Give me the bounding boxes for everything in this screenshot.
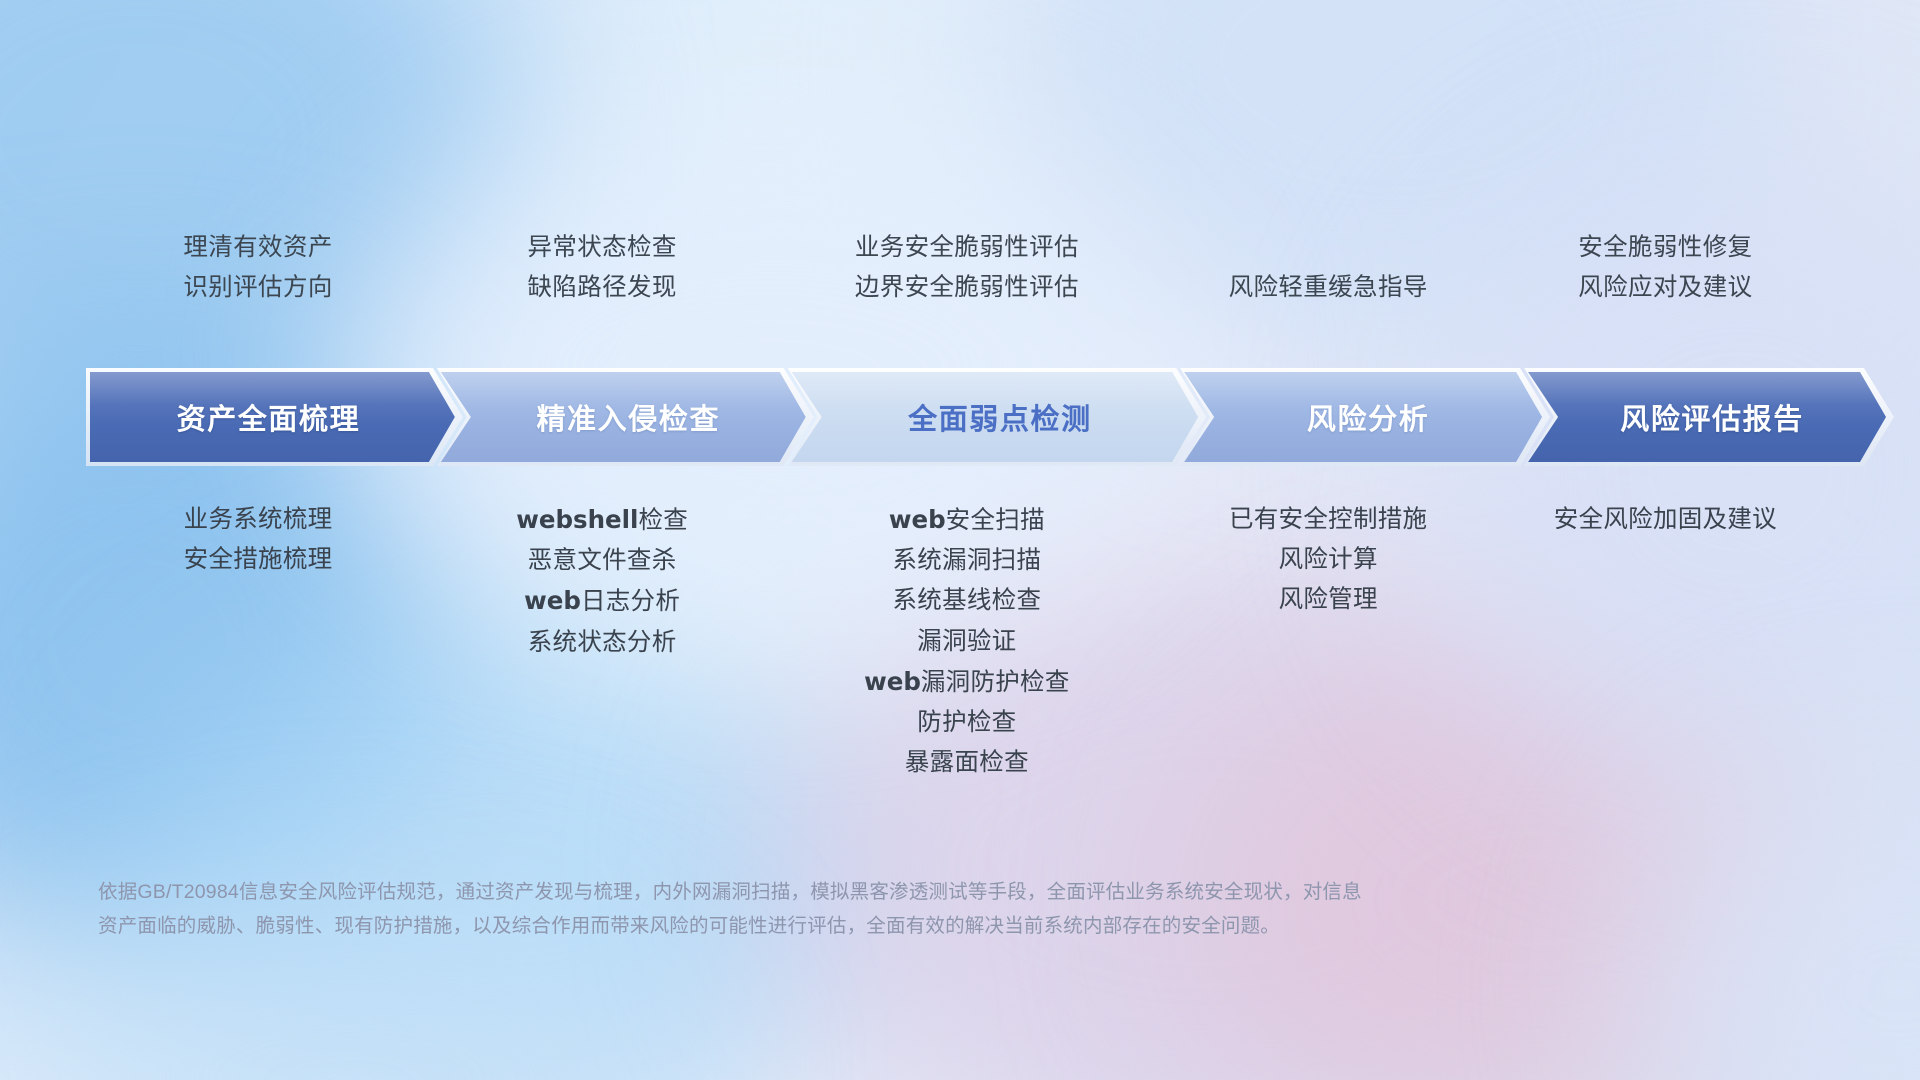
process-chevron-band: 资产全面梳理精准入侵检查全面弱点检测风险分析风险评估报告 xyxy=(86,368,1848,466)
activity-item: 安全措施梳理 xyxy=(184,540,333,580)
infographic-canvas: 理清有效资产识别评估方向异常状态检查缺陷路径发现业务安全脆弱性评估边界安全脆弱性… xyxy=(0,0,1920,1080)
footer-line-1: 依据GB/T20984信息安全风险评估规范，通过资产发现与梳理，内外网漏洞扫描，… xyxy=(98,876,1618,910)
activity-item: 恶意文件查杀 xyxy=(528,541,677,581)
outcome-item: 缺陷路径发现 xyxy=(527,268,676,308)
stage-outcomes-risk-analysis: 风险轻重缓急指导 xyxy=(1160,228,1497,308)
activity-item: 漏洞验证 xyxy=(917,622,1016,662)
outcome-item: 理清有效资产 xyxy=(183,228,332,268)
chevron-label: 精准入侵检查 xyxy=(536,396,720,438)
outcome-item: 异常状态检查 xyxy=(527,228,676,268)
activity-item: web安全扫描 xyxy=(889,500,1045,541)
stage-activities-weakness-detection: web安全扫描系统漏洞扫描系统基线检查漏洞验证web漏洞防护检查防护检查暴露面检… xyxy=(774,500,1159,783)
activity-item: 业务系统梳理 xyxy=(184,500,333,540)
stage-activities-asset-inventory: 业务系统梳理安全措施梳理 xyxy=(86,500,430,580)
activity-item: 风险计算 xyxy=(1279,540,1378,580)
activity-item: web日志分析 xyxy=(524,581,680,622)
activity-item: web漏洞防护检查 xyxy=(864,662,1070,703)
stage-activities-risk-analysis: 已有安全控制措施风险计算风险管理 xyxy=(1160,500,1497,621)
stage-outcomes-asset-inventory: 理清有效资产识别评估方向 xyxy=(86,228,430,308)
chevron-risk-analysis[interactable]: 风险分析 xyxy=(1180,368,1550,466)
stage-activities-risk-report: 安全风险加固及建议 xyxy=(1497,500,1834,540)
chevron-label: 全面弱点检测 xyxy=(908,396,1092,438)
activity-item: 系统状态分析 xyxy=(528,623,677,663)
footer-description: 依据GB/T20984信息安全风险评估规范，通过资产发现与梳理，内外网漏洞扫描，… xyxy=(98,876,1618,943)
chevron-risk-report[interactable]: 风险评估报告 xyxy=(1524,368,1894,466)
activity-item: 已有安全控制措施 xyxy=(1229,500,1427,540)
stage-outcomes-row: 理清有效资产识别评估方向异常状态检查缺陷路径发现业务安全脆弱性评估边界安全脆弱性… xyxy=(86,228,1834,308)
chevron-label: 资产全面梳理 xyxy=(177,396,361,438)
activity-item: 系统基线检查 xyxy=(892,581,1041,621)
footer-line-2: 资产面临的威胁、脆弱性、现有防护措施，以及综合作用而带来风险的可能性进行评估，全… xyxy=(98,910,1618,944)
activity-item: 系统漏洞扫描 xyxy=(892,541,1041,581)
outcome-item: 业务安全脆弱性评估 xyxy=(855,228,1079,268)
stage-outcomes-intrusion-inspection: 异常状态检查缺陷路径发现 xyxy=(430,228,774,308)
outcome-item: 风险应对及建议 xyxy=(1578,268,1752,308)
outcome-item: 风险轻重缓急指导 xyxy=(1229,268,1428,308)
stage-activities-intrusion-inspection: webshell检查恶意文件查杀web日志分析系统状态分析 xyxy=(430,500,774,663)
activity-item: 风险管理 xyxy=(1279,580,1378,620)
activity-item: 安全风险加固及建议 xyxy=(1554,500,1777,540)
outcome-item: 识别评估方向 xyxy=(183,268,332,308)
chevron-label: 风险分析 xyxy=(1307,396,1429,438)
chevron-asset-inventory[interactable]: 资产全面梳理 xyxy=(86,368,463,466)
activity-item: 防护检查 xyxy=(917,703,1016,743)
stage-outcomes-risk-report: 安全脆弱性修复风险应对及建议 xyxy=(1497,228,1834,308)
chevron-weakness-detection[interactable]: 全面弱点检测 xyxy=(788,368,1206,466)
stage-outcomes-weakness-detection: 业务安全脆弱性评估边界安全脆弱性评估 xyxy=(774,228,1159,308)
chevron-label: 风险评估报告 xyxy=(1620,396,1804,438)
chevron-intrusion-inspection[interactable]: 精准入侵检查 xyxy=(437,368,814,466)
activity-item: 暴露面检查 xyxy=(905,743,1029,783)
outcome-item: 安全脆弱性修复 xyxy=(1578,228,1752,268)
stage-activities-row: 业务系统梳理安全措施梳理webshell检查恶意文件查杀web日志分析系统状态分… xyxy=(86,500,1834,783)
activity-item: webshell检查 xyxy=(516,500,688,541)
outcome-item: 边界安全脆弱性评估 xyxy=(855,268,1079,308)
